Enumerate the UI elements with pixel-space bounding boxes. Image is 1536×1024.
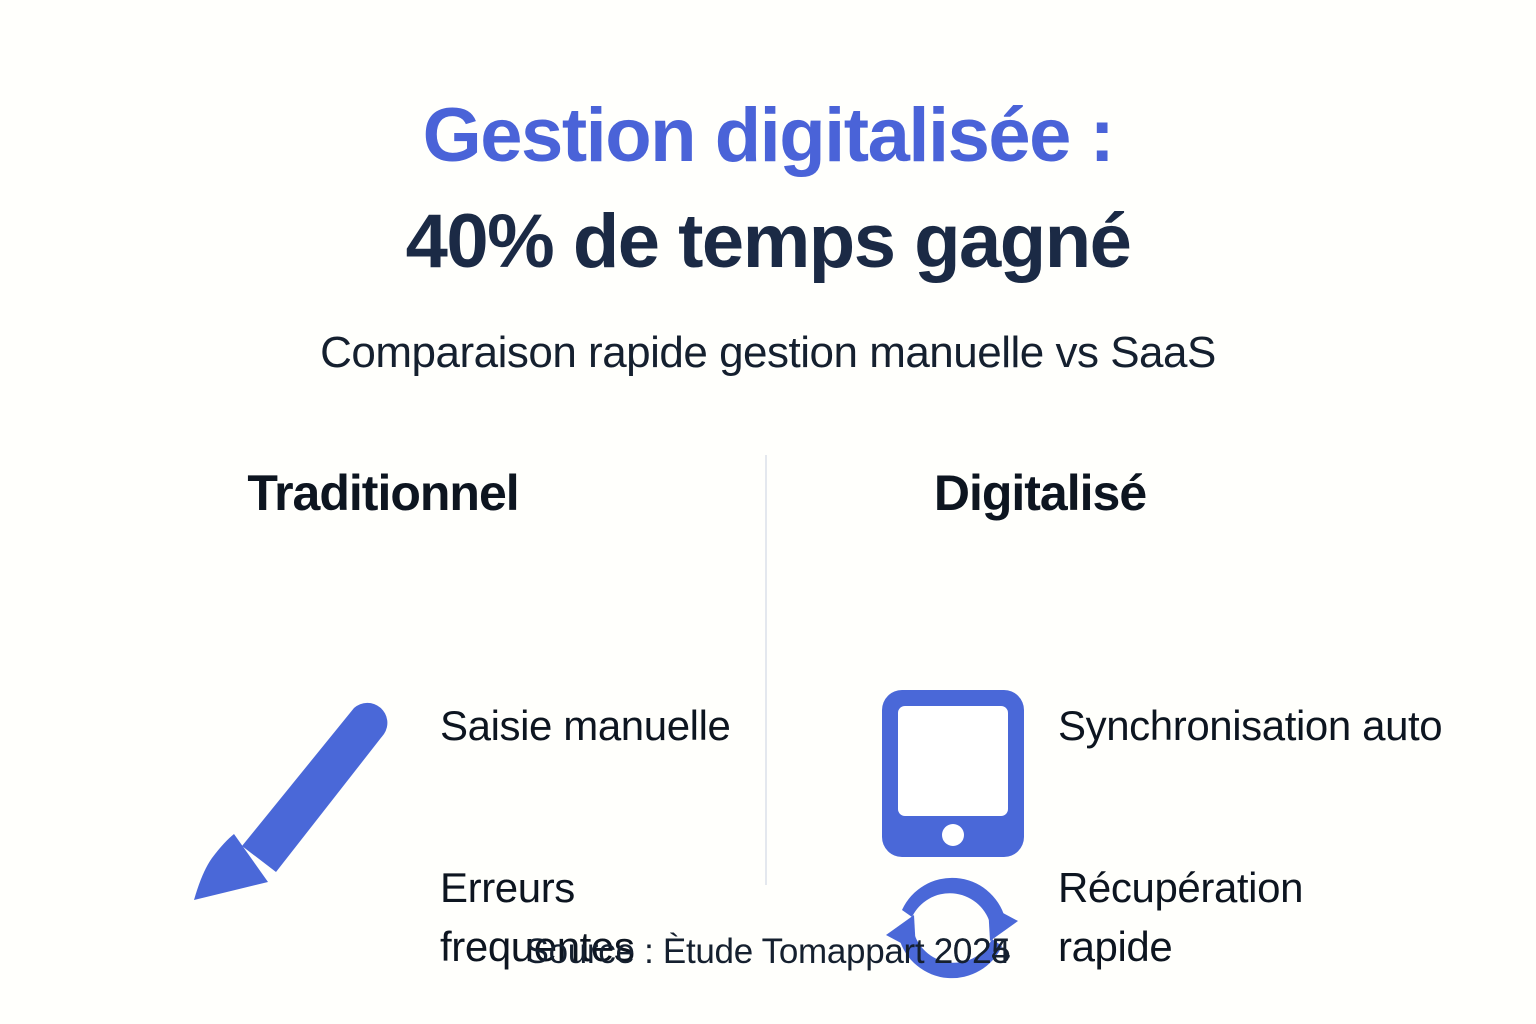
column-traditionnel: Traditionnel Saisie manuelle Erreurs fre… <box>128 460 768 568</box>
column-heading-traditionnel: Traditionnel <box>128 460 768 530</box>
title-line-1: Gestion digitalisée : <box>0 88 1536 184</box>
tablet-icon <box>878 686 1028 861</box>
infographic-page: Gestion digitalisée : 40% de temps gagné… <box>0 0 1536 1024</box>
subtitle: Comparaison rapide gestion manuelle vs S… <box>0 322 1536 384</box>
source-line: Source : Ètude Tomappart 202420242025 <box>0 927 1536 977</box>
title-line-2: 40% de temps gagné <box>0 194 1536 290</box>
source-year-overlap: 202420242025 <box>934 927 1011 977</box>
pencil-icon <box>184 686 394 901</box>
source-year-b: 2025 <box>934 927 1011 977</box>
column-heading-digitalise: Digitalisé <box>790 460 1430 530</box>
feature-label-synchronisation-auto: Synchronisation auto <box>1058 696 1458 755</box>
feature-label-saisie-manuelle: Saisie manuelle <box>440 696 760 755</box>
column-digitalise: Digitalisé <box>790 460 1430 568</box>
source-prefix: Source : Ètude Tomappart <box>526 932 934 971</box>
